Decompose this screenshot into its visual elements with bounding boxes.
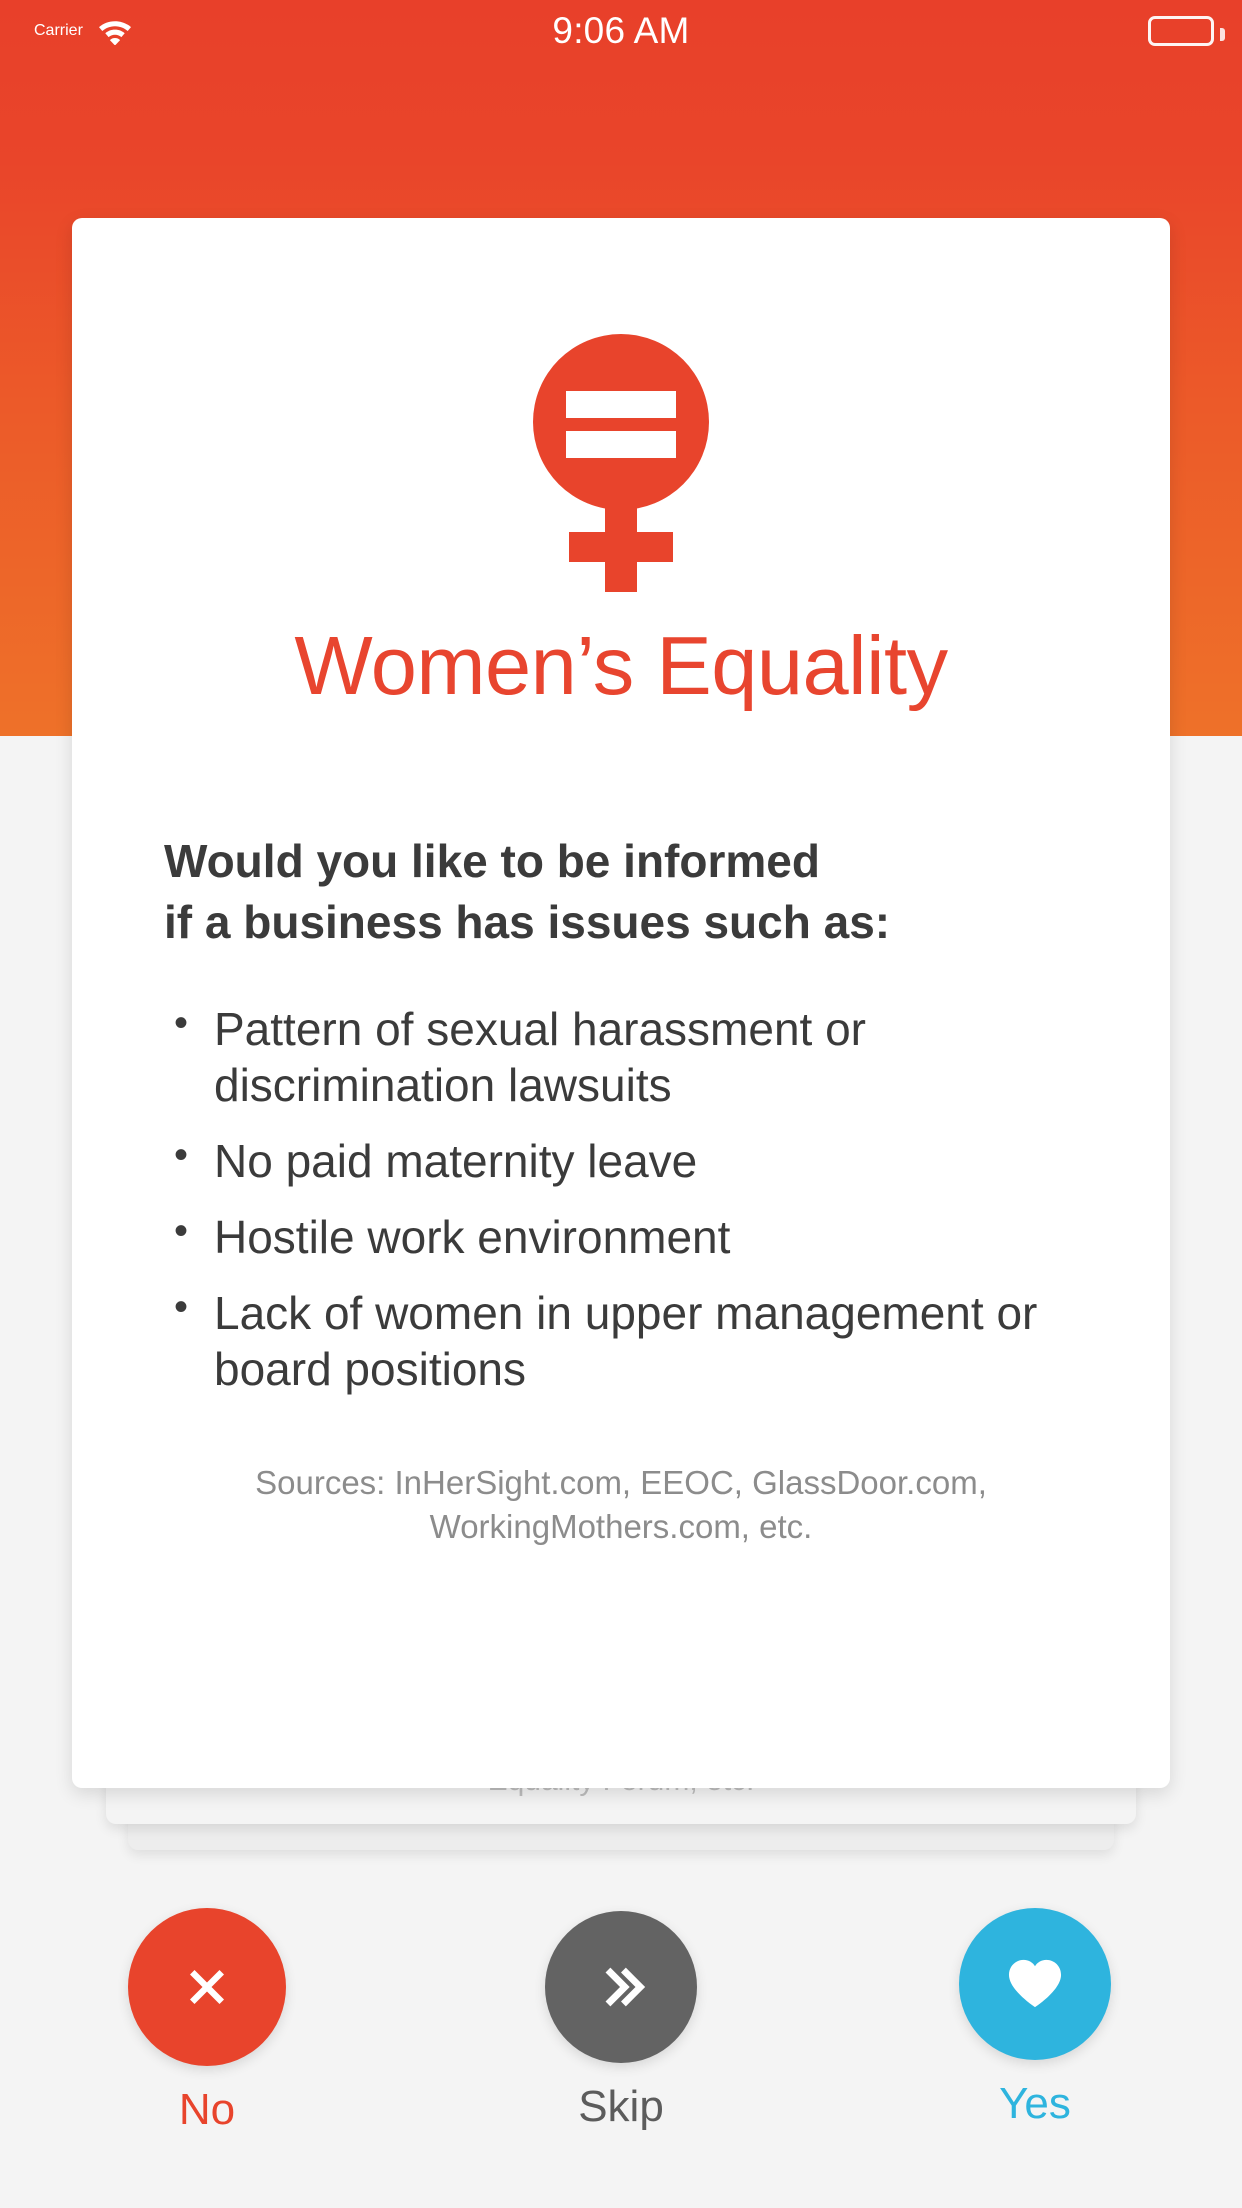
status-bar-clock: 9:06 AM bbox=[0, 0, 1242, 62]
status-bar-right bbox=[1148, 0, 1214, 62]
card-stack: Equality Forum, etc. Women’s Eq bbox=[0, 218, 1242, 1838]
no-button[interactable]: No bbox=[0, 1878, 414, 2132]
heart-icon[interactable] bbox=[959, 1908, 1111, 2060]
status-bar: Carrier 9:06 AM bbox=[0, 0, 1242, 62]
yes-button-label: Yes bbox=[999, 2082, 1071, 2126]
double-chevron-right-icon[interactable] bbox=[545, 1911, 697, 2063]
list-item: No paid maternity leave bbox=[168, 1133, 1110, 1189]
list-item: Lack of women in upper management or boa… bbox=[168, 1285, 1110, 1397]
close-x-icon[interactable] bbox=[128, 1908, 286, 2066]
action-bar: No Skip Yes bbox=[0, 1878, 1242, 2208]
page-title: Women’s Equality bbox=[132, 622, 1110, 709]
no-button-label: No bbox=[179, 2088, 235, 2132]
skip-button[interactable]: Skip bbox=[414, 1878, 828, 2129]
womens-equality-icon bbox=[521, 334, 721, 592]
sources-note: Sources: InHerSight.com, EEOC, GlassDoor… bbox=[132, 1461, 1110, 1549]
issues-list: Pattern of sexual harassment or discrimi… bbox=[132, 1001, 1110, 1398]
question-line-2: if a business has issues such as: bbox=[164, 892, 1110, 953]
topic-card[interactable]: Women’s Equality Would you like to be in… bbox=[72, 218, 1170, 1788]
app-screen: Carrier 9:06 AM Equality Forum, etc. bbox=[0, 0, 1242, 2208]
question-prompt: Would you like to be informed if a busin… bbox=[132, 831, 1110, 952]
list-item: Pattern of sexual harassment or discrimi… bbox=[168, 1001, 1110, 1113]
skip-button-label: Skip bbox=[578, 2085, 664, 2129]
battery-cap bbox=[1220, 28, 1225, 41]
question-line-1: Would you like to be informed bbox=[164, 831, 1110, 892]
topic-card-content: Women’s Equality Would you like to be in… bbox=[72, 218, 1170, 1549]
battery-full-icon bbox=[1148, 16, 1214, 46]
yes-button[interactable]: Yes bbox=[828, 1878, 1242, 2126]
list-item: Hostile work environment bbox=[168, 1209, 1110, 1265]
topic-icon-container bbox=[132, 218, 1110, 592]
